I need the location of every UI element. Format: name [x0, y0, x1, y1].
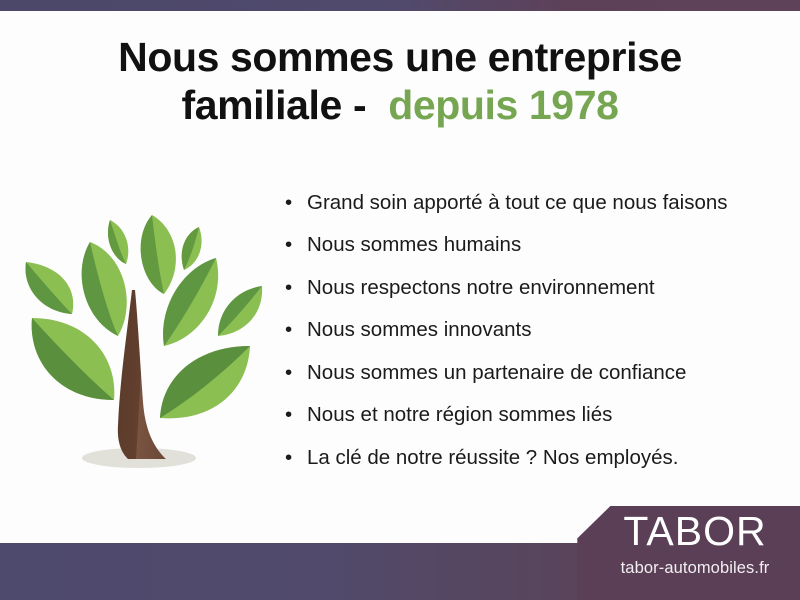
- title-line-2: familiale - depuis 1978: [0, 82, 800, 130]
- list-item: • Nous respectons notre environnement: [282, 277, 782, 300]
- top-accent-bar: [0, 0, 800, 11]
- bullet-marker-icon: •: [285, 319, 292, 342]
- list-item-label: Nous respectons notre environnement: [307, 276, 655, 299]
- leaf-lower-left: [32, 318, 115, 400]
- list-item-label: La clé de notre réussite ? Nos employés.: [307, 446, 678, 469]
- list-item: • La clé de notre réussite ? Nos employé…: [282, 447, 782, 470]
- list-item-label: Nous sommes un partenaire de confiance: [307, 361, 686, 384]
- leaf-lower-right: [160, 346, 250, 418]
- list-item: • Nous sommes un partenaire de confiance: [282, 362, 782, 385]
- bullet-marker-icon: •: [285, 447, 292, 470]
- bullet-marker-icon: •: [285, 277, 292, 300]
- bullet-marker-icon: •: [285, 234, 292, 257]
- list-item: • Grand soin apporté à tout ce que nous …: [282, 192, 782, 215]
- brand-logo-wordmark: TABOR: [602, 511, 788, 552]
- leaf-top-right: [182, 227, 202, 270]
- page-title: Nous sommes une entreprise familiale - d…: [0, 34, 800, 129]
- list-item-label: Grand soin apporté à tout ce que nous fa…: [307, 191, 728, 214]
- leaf-right-small: [218, 286, 262, 336]
- title-line-2-accent: depuis 1978: [388, 82, 618, 128]
- tree-svg: [14, 190, 274, 490]
- list-item: • Nous sommes innovants: [282, 319, 782, 342]
- list-item-label: Nous sommes innovants: [307, 318, 531, 341]
- bullet-marker-icon: •: [285, 362, 292, 385]
- title-line-1: Nous sommes une entreprise: [0, 34, 800, 82]
- brand-website-tagline: tabor-automobiles.fr: [602, 560, 788, 577]
- value-bullet-list: • Grand soin apporté à tout ce que nous …: [282, 192, 782, 489]
- slide-canvas: Nous sommes une entreprise familiale - d…: [0, 0, 800, 600]
- tree-illustration: [14, 190, 274, 490]
- list-item: • Nous sommes humains: [282, 234, 782, 257]
- leaf-left-small: [25, 262, 73, 314]
- title-line-2-black: familiale -: [181, 82, 366, 128]
- list-item-label: Nous sommes humains: [307, 233, 521, 256]
- leaf-top-center: [141, 215, 176, 294]
- bullet-marker-icon: •: [285, 404, 292, 427]
- bullet-marker-icon: •: [285, 192, 292, 215]
- list-item-label: Nous et notre région sommes liés: [307, 403, 612, 426]
- list-item: • Nous et notre région sommes liés: [282, 404, 782, 427]
